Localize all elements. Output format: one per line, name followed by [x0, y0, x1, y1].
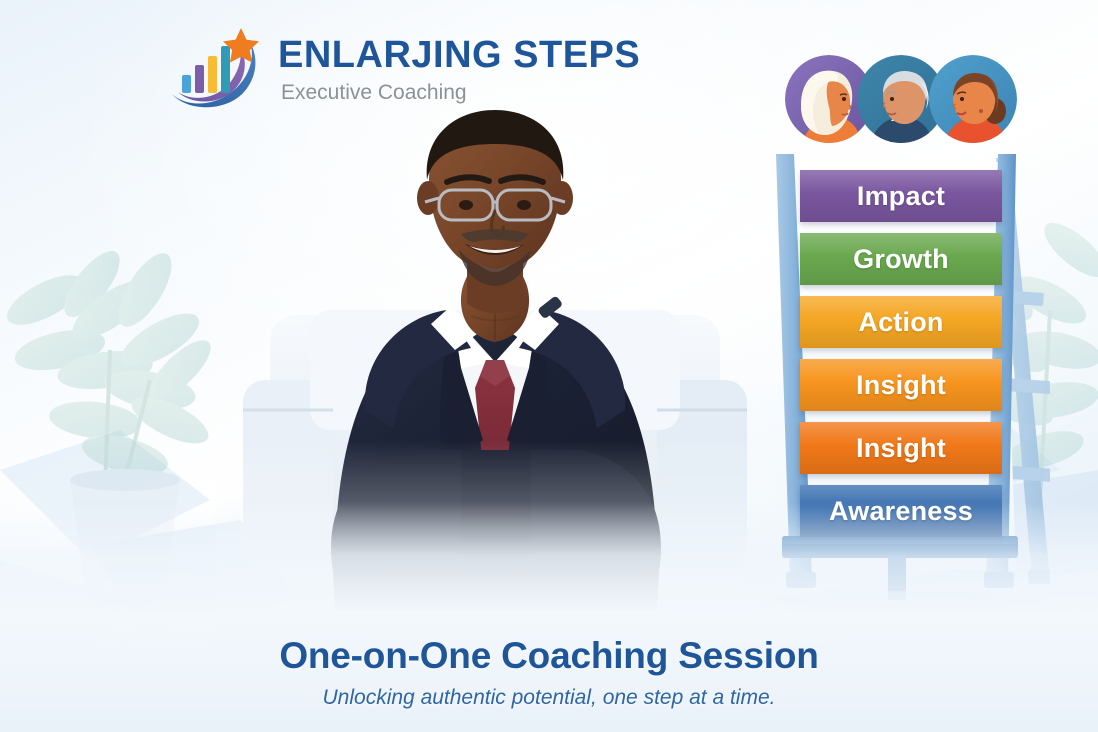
step-insight-1[interactable]: Insight [800, 359, 1002, 411]
page-title: One-on-One Coaching Session [0, 635, 1098, 677]
brand-subtitle: Executive Coaching [281, 82, 640, 103]
step-label: Awareness [829, 496, 973, 527]
head [417, 110, 573, 286]
step-awareness[interactable]: Awareness [800, 485, 1002, 537]
step-label: Action [858, 307, 943, 338]
step-action[interactable]: Action [800, 296, 1002, 348]
step-label: Insight [856, 370, 946, 401]
caption-block: One-on-One Coaching Session Unlocking au… [0, 635, 1098, 710]
step-impact[interactable]: Impact [800, 170, 1002, 222]
step-growth[interactable]: Growth [800, 233, 1002, 285]
step-insight-2[interactable]: Insight [800, 422, 1002, 474]
step-label: Growth [853, 244, 949, 275]
diverse-clients-avatar-group [785, 55, 1025, 147]
coaching-steps-easel: Impact Growth Action Insight Insight Awa… [760, 140, 1050, 610]
seated-executive-coach [215, 110, 775, 630]
step-label: Insight [856, 433, 946, 464]
page-tagline: Unlocking authentic potential, one step … [0, 686, 1098, 710]
step-label: Impact [857, 181, 945, 212]
plant-left-decor [0, 243, 219, 613]
bar-chart-star-swoosh-logo-icon [168, 26, 264, 112]
steps-list: Impact Growth Action Insight Insight Awa… [800, 170, 1002, 545]
avatar-woman-ponytail [929, 55, 1017, 143]
brand-logo[interactable]: ENLARJING STEPS Executive Coaching [168, 26, 640, 112]
brand-title: ENLARJING STEPS [278, 36, 640, 74]
poster-canvas: ENLARJING STEPS Executive Coaching [0, 0, 1098, 732]
